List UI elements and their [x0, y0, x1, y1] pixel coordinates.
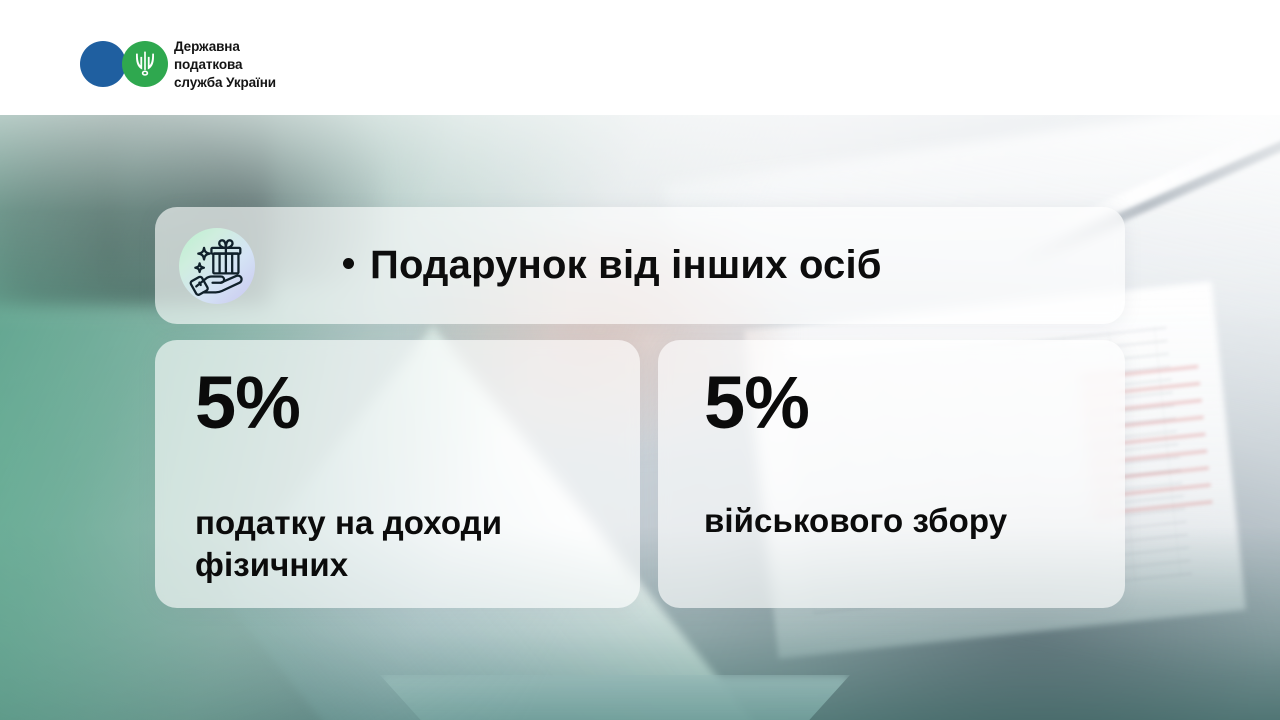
gift-in-hand-icon [179, 228, 255, 304]
logo-text: Державна податкова служба України [174, 38, 276, 92]
ukrainian-trident-icon [133, 50, 157, 77]
heading-card: Подарунок від інших осіб [155, 207, 1125, 324]
heading-text-row: Подарунок від інших осіб [343, 243, 882, 288]
header-bar: Державна податкова служба України [0, 0, 1280, 115]
blue-circle-icon [80, 41, 126, 87]
logo-text-line-3: служба України [174, 74, 276, 92]
stat-value: 5% [704, 366, 1101, 440]
bullet-icon [343, 258, 354, 269]
stat-value: 5% [195, 366, 616, 440]
stat-card-military-levy: 5% військового збору [658, 340, 1125, 608]
stat-card-income-tax: 5% податку на доходи фізичних [155, 340, 640, 608]
logo-text-line-1: Державна [174, 38, 276, 56]
stat-label: військового збору [704, 500, 1101, 542]
logo-marks [80, 41, 168, 89]
slide-root: Подарунок від інших осіб 5% податку на д… [0, 0, 1280, 720]
logo-text-line-2: податкова [174, 56, 276, 74]
heading-label: Подарунок від інших осіб [370, 243, 882, 287]
organization-logo[interactable]: Державна податкова служба України [80, 38, 276, 92]
green-circle-icon [122, 41, 168, 87]
stat-label: податку на доходи фізичних [195, 502, 616, 586]
